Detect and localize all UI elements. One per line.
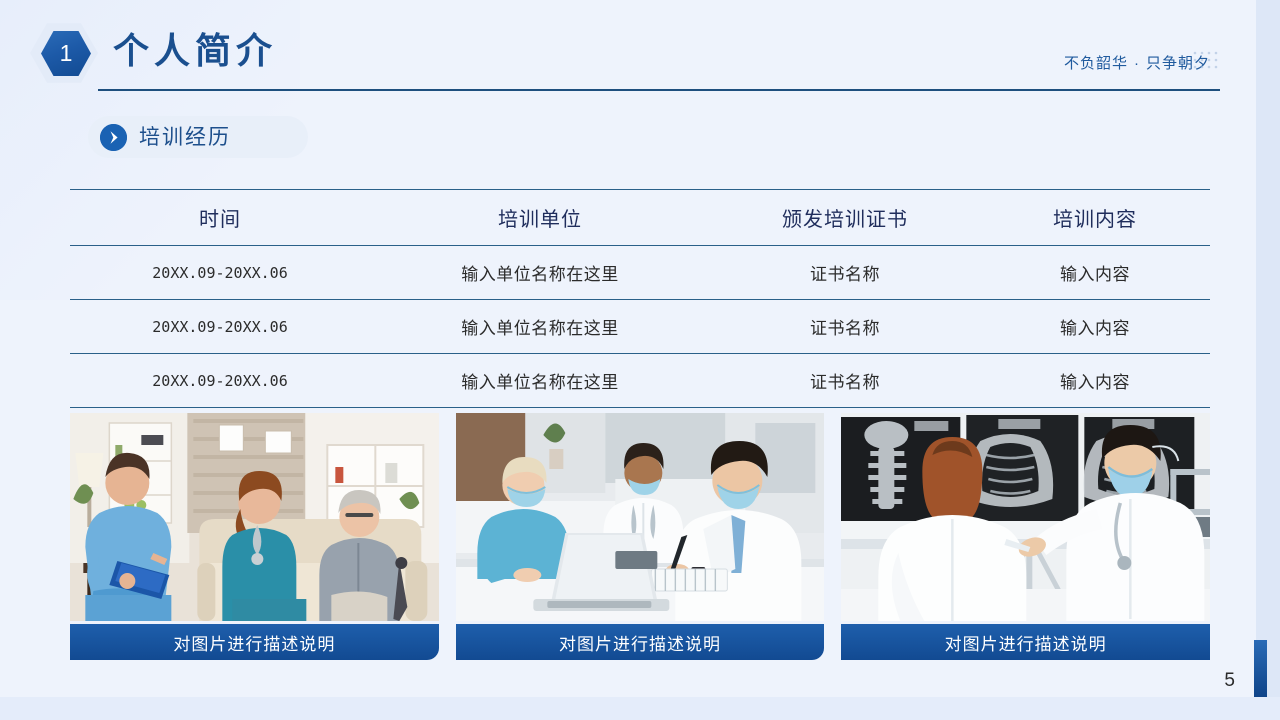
- background-bottom-band: [0, 697, 1280, 720]
- section-subtitle-label: 培训经历: [139, 127, 231, 148]
- table-row: 20XX.09-20XX.06 输入单位名称在这里 证书名称 输入内容: [70, 354, 1210, 408]
- section-subtitle: 培训经历: [88, 116, 308, 158]
- slide-header: 1 个人简介 不负韶华·只争朝夕: [0, 0, 1256, 92]
- column-header-certificate: 颁发培训证书: [710, 190, 980, 246]
- cell-institution: 输入单位名称在这里: [370, 300, 710, 354]
- photo-card: 对图片进行描述说明: [70, 413, 439, 660]
- cell-content: 输入内容: [980, 354, 1210, 408]
- cell-content: 输入内容: [980, 246, 1210, 300]
- training-table: 时间 培训单位 颁发培训证书 培训内容 20XX.09-20XX.06 输入单位…: [70, 189, 1210, 408]
- training-table-wrapper: 时间 培训单位 颁发培训证书 培训内容 20XX.09-20XX.06 输入单位…: [70, 189, 1210, 408]
- photo-home-consultation: [70, 413, 439, 621]
- cell-time: 20XX.09-20XX.06: [70, 354, 370, 408]
- cell-certificate: 证书名称: [710, 246, 980, 300]
- cell-certificate: 证书名称: [710, 354, 980, 408]
- photo-caption: 对图片进行描述说明: [70, 624, 439, 660]
- photo-xray-review: [841, 413, 1210, 621]
- section-number-label: 1: [60, 42, 73, 65]
- column-header-time: 时间: [70, 190, 370, 246]
- chevron-right-circle-icon: [100, 124, 127, 151]
- header-divider: [98, 89, 1220, 91]
- cell-content: 输入内容: [980, 300, 1210, 354]
- motto-separator: ·: [1128, 55, 1146, 72]
- cell-time: 20XX.09-20XX.06: [70, 300, 370, 354]
- column-header-institution: 培训单位: [370, 190, 710, 246]
- table-row: 20XX.09-20XX.06 输入单位名称在这里 证书名称 输入内容: [70, 300, 1210, 354]
- photo-card: 对图片进行描述说明: [841, 413, 1210, 660]
- cell-institution: 输入单位名称在这里: [370, 354, 710, 408]
- slide: 1 个人简介 不负韶华·只争朝夕 培训经历: [0, 0, 1280, 720]
- photo-caption: 对图片进行描述说明: [841, 624, 1210, 660]
- photo-team-meeting: [456, 413, 825, 621]
- cell-certificate: 证书名称: [710, 300, 980, 354]
- corner-accent-bar: [1254, 640, 1267, 697]
- page-title: 个人简介: [113, 28, 277, 75]
- cell-time: 20XX.09-20XX.06: [70, 246, 370, 300]
- table-row: 20XX.09-20XX.06 输入单位名称在这里 证书名称 输入内容: [70, 246, 1210, 300]
- table-header-row: 时间 培训单位 颁发培训证书 培训内容: [70, 190, 1210, 246]
- motto-left-text: 不负韶华: [1064, 55, 1128, 72]
- dot-grid-icon: [1192, 50, 1218, 72]
- photo-card: 对图片进行描述说明: [456, 413, 825, 660]
- page-number: 5: [1224, 671, 1235, 690]
- photo-caption: 对图片进行描述说明: [456, 624, 825, 660]
- header-motto: 不负韶华·只争朝夕: [1064, 52, 1210, 73]
- column-header-content: 培训内容: [980, 190, 1210, 246]
- cell-institution: 输入单位名称在这里: [370, 246, 710, 300]
- photo-card-list: 对图片进行描述说明: [70, 413, 1210, 660]
